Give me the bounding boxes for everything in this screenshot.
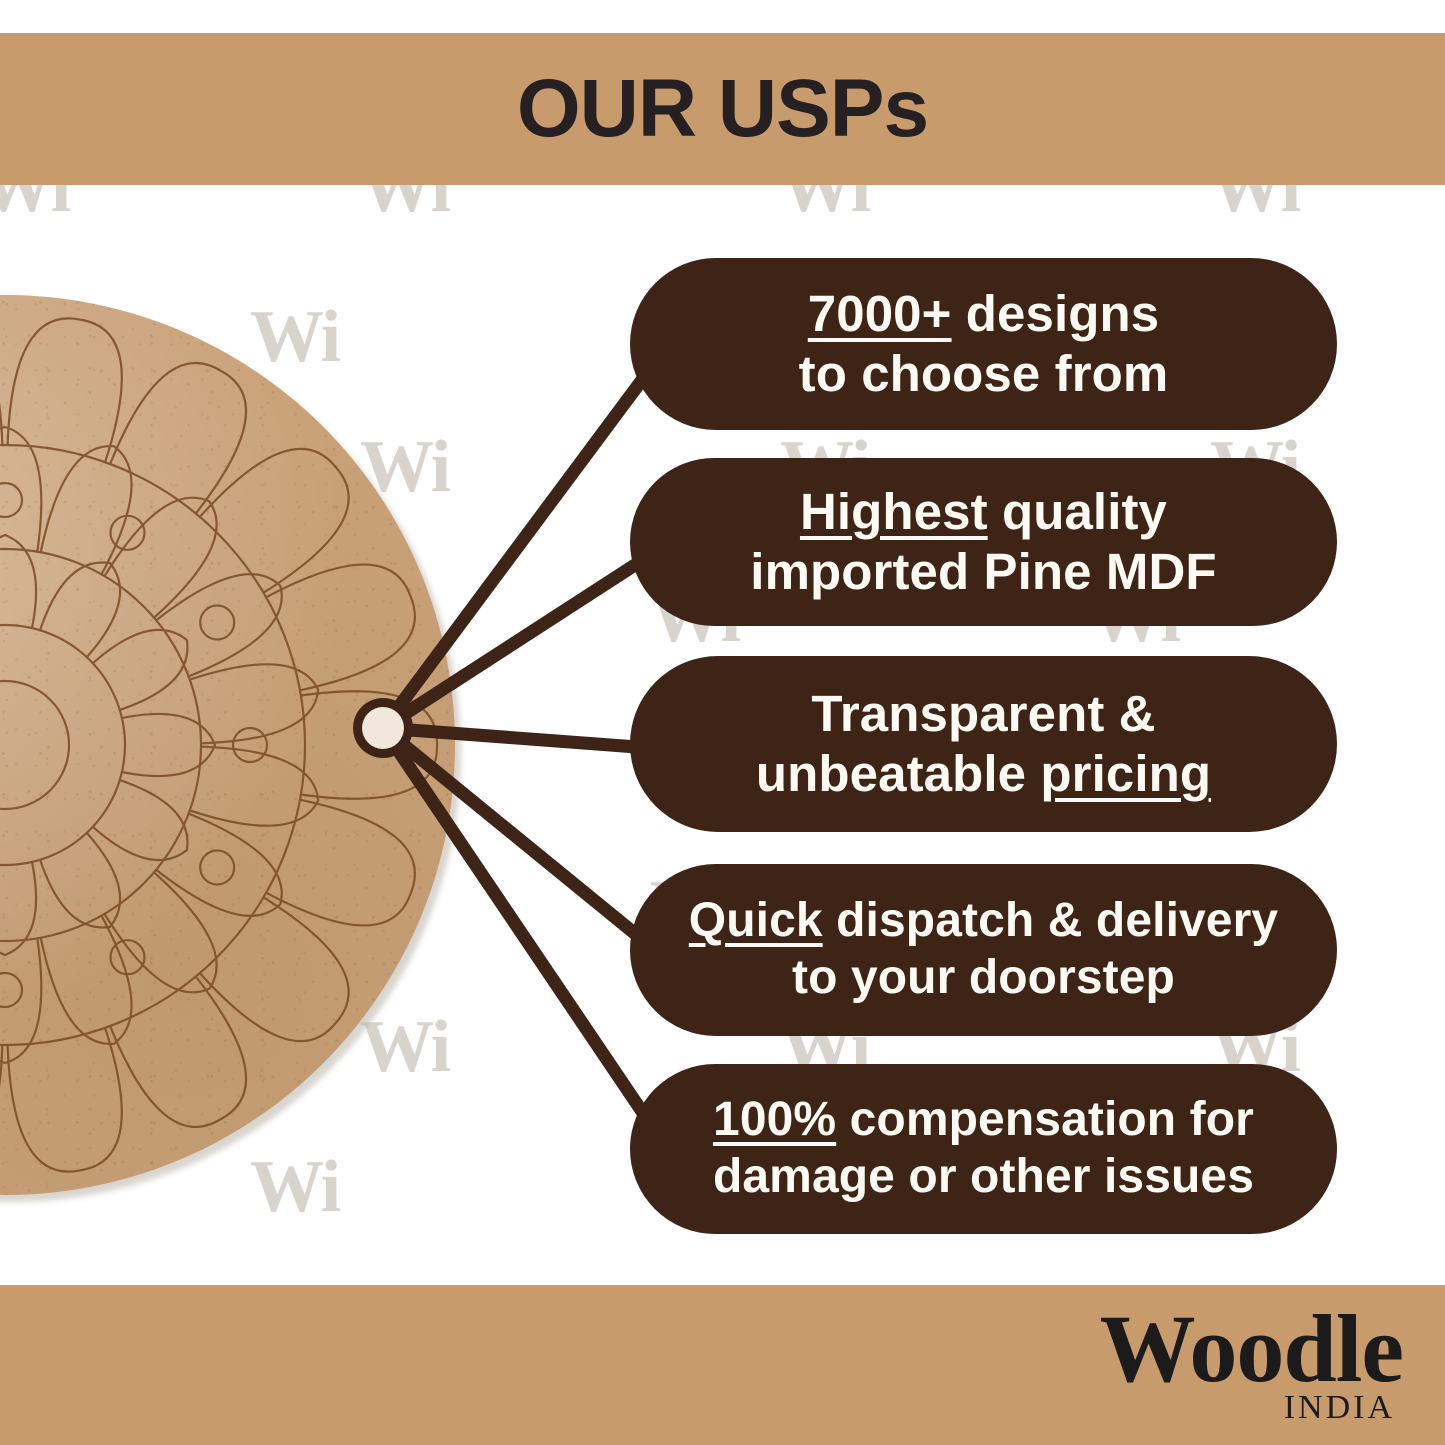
- usp-quality-highlight: Highest: [800, 483, 988, 540]
- usp-pricing-line1: Transparent &: [811, 684, 1155, 744]
- usp-dispatch-line2: to your doorstep: [792, 950, 1175, 1007]
- usp-dispatch-line1-rest: dispatch & delivery: [823, 894, 1279, 947]
- usp-pill-dispatch[interactable]: Quick dispatch & delivery to your doorst…: [630, 864, 1337, 1036]
- usp-designs-highlight: 7000+: [808, 285, 952, 342]
- usp-pricing-line2: unbeatable pricing: [756, 744, 1211, 804]
- header-band: OUR USPs: [0, 33, 1445, 185]
- page-title: OUR USPs: [517, 68, 928, 150]
- usp-pill-quality[interactable]: Highest quality imported Pine MDF: [630, 458, 1337, 626]
- brand-logo: Woodle INDIA: [1100, 1301, 1403, 1425]
- footer-band: Woodle INDIA: [0, 1285, 1445, 1445]
- usp-designs-line2: to choose from: [799, 344, 1169, 404]
- usp-infographic: WiWiWiWiWiWiWiWiWiWiWiWiWiWiWiWiWiWiWiWi…: [0, 0, 1445, 1445]
- usp-designs-line1-rest: designs: [952, 285, 1160, 342]
- usp-pill-designs[interactable]: 7000+ designs to choose from: [630, 258, 1337, 430]
- usp-quality-line1-rest: quality: [988, 483, 1167, 540]
- usp-quality-line1: Highest quality: [800, 482, 1167, 542]
- usp-quality-line2: imported Pine MDF: [750, 542, 1216, 602]
- usp-compensation-line1-rest: compensation for: [836, 1093, 1254, 1146]
- usp-pricing-line2-pre: unbeatable: [756, 745, 1041, 802]
- usp-compensation-line2: damage or other issues: [713, 1149, 1254, 1206]
- usp-dispatch-line1: Quick dispatch & delivery: [689, 893, 1278, 950]
- usp-pill-compensation[interactable]: 100% compensation for damage or other is…: [630, 1064, 1337, 1234]
- usp-dispatch-highlight: Quick: [689, 894, 823, 947]
- usp-pill-list: 7000+ designs to choose from Highest qua…: [0, 0, 1445, 1445]
- usp-designs-line1: 7000+ designs: [808, 284, 1159, 344]
- usp-compensation-line1: 100% compensation for: [713, 1092, 1254, 1149]
- usp-compensation-highlight: 100%: [713, 1093, 836, 1146]
- brand-name: Woodle: [1100, 1301, 1403, 1397]
- usp-pricing-highlight: pricing: [1040, 745, 1211, 802]
- usp-pill-pricing[interactable]: Transparent & unbeatable pricing: [630, 656, 1337, 832]
